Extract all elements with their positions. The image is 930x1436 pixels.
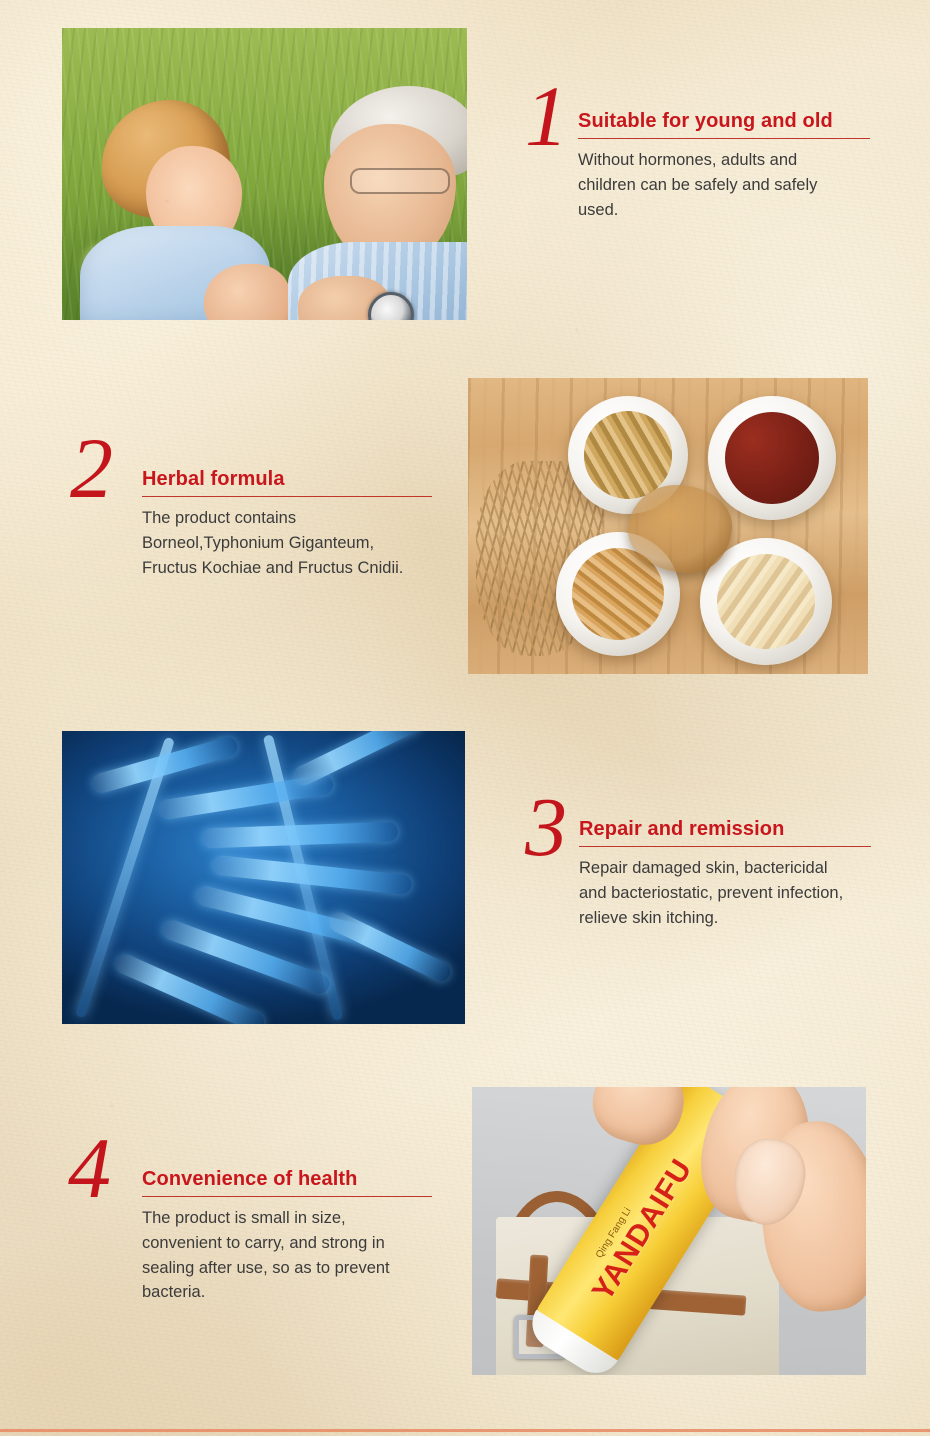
- photo-product-tube-and-bag: YANDAIFU Qing Fang Li: [472, 1087, 866, 1375]
- photo-herbal-ingredients: [468, 378, 868, 674]
- feature-4-body: The product is small in size, convenient…: [142, 1206, 472, 1305]
- feature-1-heading: Suitable for young and old: [578, 110, 878, 133]
- photo-child-and-elderly-man: [62, 28, 467, 320]
- feature-3-heading: Repair and remission: [579, 818, 899, 841]
- dna-base-pair: [326, 909, 453, 985]
- bowl-content-red-dates: [725, 412, 820, 504]
- feature-number-2: 2: [70, 430, 111, 507]
- dna-base-pair: [291, 731, 426, 789]
- feature-4-heading: Convenience of health: [142, 1168, 472, 1191]
- dna-base-pair: [202, 822, 399, 849]
- bowl-content-cashews: [717, 554, 815, 648]
- feature-4-text: Convenience of health The product is sma…: [142, 1168, 472, 1305]
- feature-4: 4 Convenience of health The product is s…: [62, 1130, 462, 1330]
- feature-3-text: Repair and remission Repair damaged skin…: [579, 818, 899, 930]
- product-feature-page: 1 Suitable for young and old Without hor…: [0, 0, 930, 1436]
- feature-2: 2 Herbal formula The product contains Bo…: [62, 430, 462, 610]
- feature-3-rule: [579, 846, 871, 847]
- feature-4-rule: [142, 1196, 432, 1197]
- bottom-accent-rule: [0, 1429, 930, 1432]
- feature-3-body: Repair damaged skin, bactericidal and ba…: [579, 856, 899, 930]
- feature-3: 3 Repair and remission Repair damaged sk…: [515, 790, 905, 960]
- bowl-red-dates: [708, 396, 836, 520]
- feature-2-heading: Herbal formula: [142, 468, 462, 491]
- feature-number-1: 1: [525, 78, 566, 155]
- feature-2-rule: [142, 496, 432, 497]
- feature-2-body: The product contains Borneol,Typhonium G…: [142, 506, 462, 580]
- photo-dna-helix: [62, 731, 465, 1024]
- feature-number-4: 4: [68, 1130, 109, 1207]
- feature-number-3: 3: [525, 790, 565, 866]
- dna-base-pair: [212, 855, 413, 896]
- eyeglasses: [350, 168, 450, 194]
- feature-1: 1 Suitable for young and old Without hor…: [515, 78, 895, 258]
- feature-2-text: Herbal formula The product contains Born…: [142, 468, 462, 580]
- feature-1-text: Suitable for young and old Without hormo…: [578, 110, 878, 222]
- feature-1-body: Without hormones, adults and children ca…: [578, 148, 878, 222]
- feature-1-rule: [578, 138, 870, 139]
- bowl-content-herbs: [584, 411, 673, 499]
